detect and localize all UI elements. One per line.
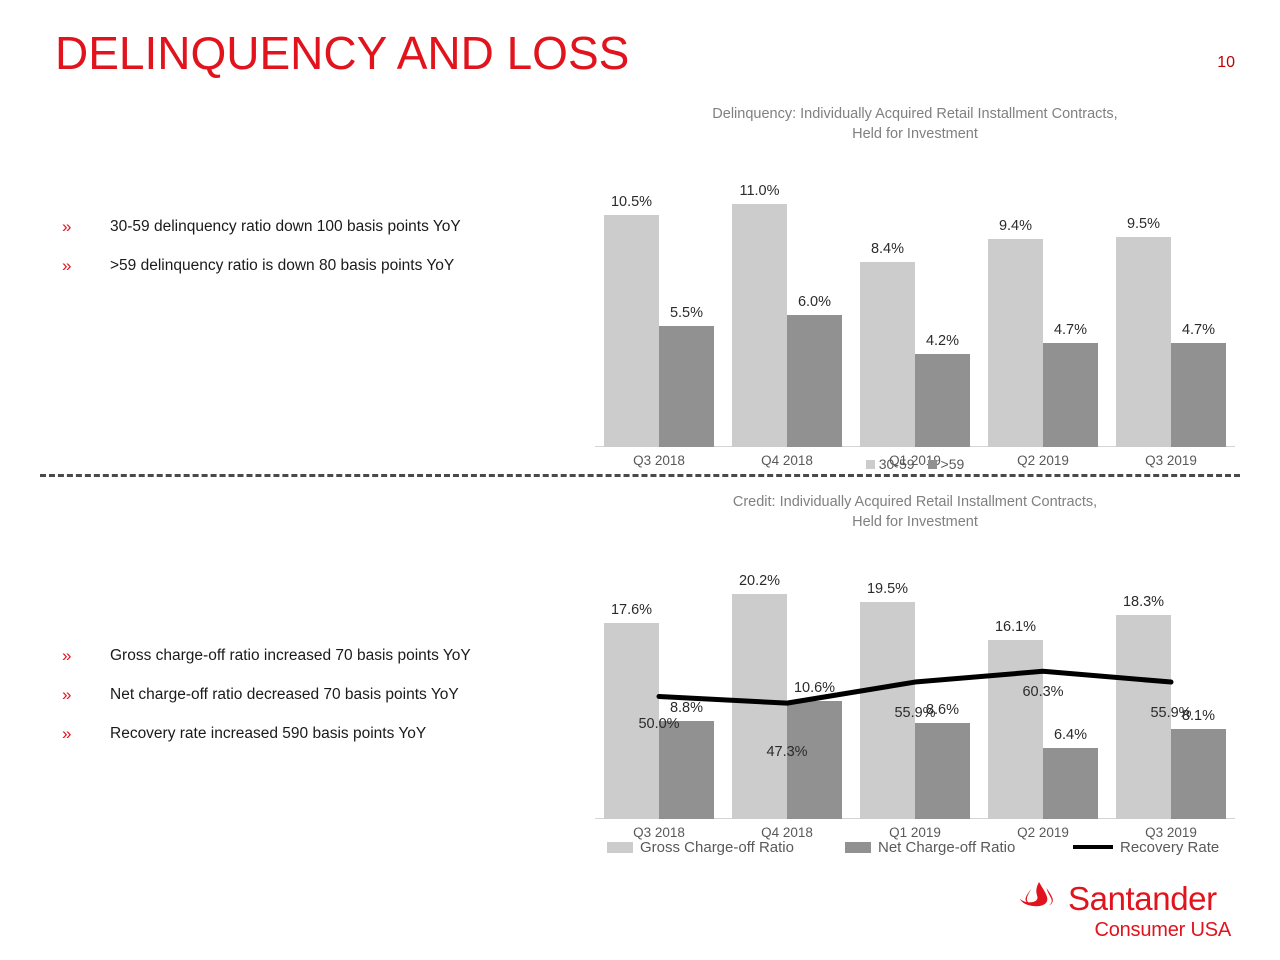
bar-value-label: 4.2% — [901, 332, 984, 350]
bullet-list-delinquency: »30-59 delinquency ratio down 100 basis … — [62, 216, 582, 294]
credit-chart: Credit: Individually Acquired Retail Ins… — [595, 492, 1235, 843]
legend-item: Recovery Rate — [1073, 839, 1219, 856]
bullet-delinquency-text: >59 delinquency ratio is down 80 basis p… — [110, 255, 454, 277]
bullet-delinquency-text: 30-59 delinquency ratio down 100 basis p… — [110, 216, 461, 238]
bar-value-label: 4.7% — [1029, 321, 1112, 339]
bar--59-q4-2018 — [787, 315, 842, 448]
bar-value-label: 11.0% — [718, 182, 801, 200]
legend-label: Recovery Rate — [1120, 839, 1219, 856]
recovery-rate-value-label: 60.3% — [979, 683, 1107, 701]
bar--59-q1-2019 — [915, 354, 970, 447]
bar-value-label: 9.5% — [1102, 215, 1185, 233]
bullet-credit-item: »Net charge-off ratio decreased 70 basis… — [62, 684, 582, 706]
bar-value-label: 9.4% — [974, 217, 1057, 235]
page-title: DELINQUENCY AND LOSS — [55, 27, 629, 79]
bullet-credit-text: Recovery rate increased 590 basis points… — [110, 723, 426, 745]
bar-30-59-q1-2019 — [860, 262, 915, 448]
legend-swatch-icon — [845, 842, 871, 853]
bullet-credit-text: Net charge-off ratio decreased 70 basis … — [110, 684, 459, 706]
section-divider — [40, 474, 1240, 477]
bar-gross-charge-off-q4-2018 — [732, 594, 787, 819]
bullet-marker-icon: » — [62, 723, 110, 745]
bar-value-label: 10.5% — [590, 193, 673, 211]
legend-label: 30-59 — [879, 456, 915, 472]
slide-root: DELINQUENCY AND LOSS 10 »30-59 delinquen… — [0, 0, 1280, 960]
legend-swatch-icon — [866, 460, 875, 469]
bullet-delinquency-item: »30-59 delinquency ratio down 100 basis … — [62, 216, 582, 238]
legend-item: Net Charge-off Ratio — [845, 839, 1015, 856]
bullet-marker-icon: » — [62, 645, 110, 667]
bar-value-label: 10.6% — [773, 679, 856, 697]
recovery-rate-value-label: 55.9% — [851, 704, 979, 722]
bar-value-label: 8.4% — [846, 240, 929, 258]
recovery-rate-value-label: 47.3% — [723, 743, 851, 761]
bar-value-label: 5.5% — [645, 304, 728, 322]
bar-value-label: 18.3% — [1102, 593, 1185, 611]
legend-label: Net Charge-off Ratio — [878, 839, 1015, 856]
recovery-rate-value-label: 50.0% — [595, 715, 723, 733]
legend-label: Gross Charge-off Ratio — [640, 839, 794, 856]
delinquency-plot-area: 10.5%11.0%8.4%9.4%9.5%5.5%6.0%4.2%4.7%4.… — [595, 182, 1235, 447]
bullet-marker-icon: » — [62, 216, 110, 238]
chart-title-delinquency: Delinquency: Individually Acquired Retai… — [595, 104, 1235, 144]
recovery-rate-value-label: 55.9% — [1107, 704, 1235, 722]
legend-swatch-icon — [928, 460, 937, 469]
bar-30-59-q2-2019 — [988, 239, 1043, 447]
bar--59-q3-2019 — [1171, 343, 1226, 447]
santander-logo: Santander Consumer USA — [1018, 880, 1233, 942]
bar-net-charge-off-q2-2019 — [1043, 748, 1098, 819]
bar--59-q2-2019 — [1043, 343, 1098, 447]
bar-net-charge-off-q3-2018 — [659, 721, 714, 819]
legend-line-icon — [1073, 845, 1113, 849]
bar-value-label: 20.2% — [718, 572, 801, 590]
credit-plot-area: 17.6%20.2%19.5%16.1%18.3%8.8%10.6%8.6%6.… — [595, 574, 1235, 819]
santander-flame-icon — [1018, 880, 1060, 917]
bar-30-59-q4-2018 — [732, 204, 787, 447]
credit-legend: Gross Charge-off RatioNet Charge-off Rat… — [595, 837, 1235, 857]
bullet-list-credit: »Gross charge-off ratio increased 70 bas… — [62, 645, 582, 762]
bar-net-charge-off-q3-2019 — [1171, 729, 1226, 819]
chart-title-credit: Credit: Individually Acquired Retail Ins… — [595, 492, 1235, 532]
bar-net-charge-off-q1-2019 — [915, 723, 970, 819]
delinquency-legend: 30-59>59 — [595, 456, 1235, 472]
legend-item: Gross Charge-off Ratio — [607, 839, 794, 856]
legend-label: >59 — [941, 456, 965, 472]
delinquency-chart: Delinquency: Individually Acquired Retai… — [595, 104, 1235, 471]
logo-wordmark: Santander — [1068, 882, 1217, 916]
bullet-marker-icon: » — [62, 684, 110, 706]
logo-subtitle: Consumer USA — [1018, 918, 1233, 942]
bar-30-59-q3-2019 — [1116, 237, 1171, 447]
bar-value-label: 6.0% — [773, 293, 856, 311]
bar-value-label: 17.6% — [590, 601, 673, 619]
bar-value-label: 19.5% — [846, 580, 929, 598]
bullet-credit-item: »Gross charge-off ratio increased 70 bas… — [62, 645, 582, 667]
legend-swatch-icon — [607, 842, 633, 853]
bullet-credit-text: Gross charge-off ratio increased 70 basi… — [110, 645, 471, 667]
bar-value-label: 16.1% — [974, 618, 1057, 636]
bar-30-59-q3-2018 — [604, 215, 659, 447]
bar-value-label: 6.4% — [1029, 726, 1112, 744]
bullet-delinquency-item: »>59 delinquency ratio is down 80 basis … — [62, 255, 582, 277]
page-number: 10 — [1217, 54, 1235, 72]
bullet-marker-icon: » — [62, 255, 110, 277]
bar-value-label: 4.7% — [1157, 321, 1240, 339]
bullet-credit-item: »Recovery rate increased 590 basis point… — [62, 723, 582, 745]
bar--59-q3-2018 — [659, 326, 714, 447]
